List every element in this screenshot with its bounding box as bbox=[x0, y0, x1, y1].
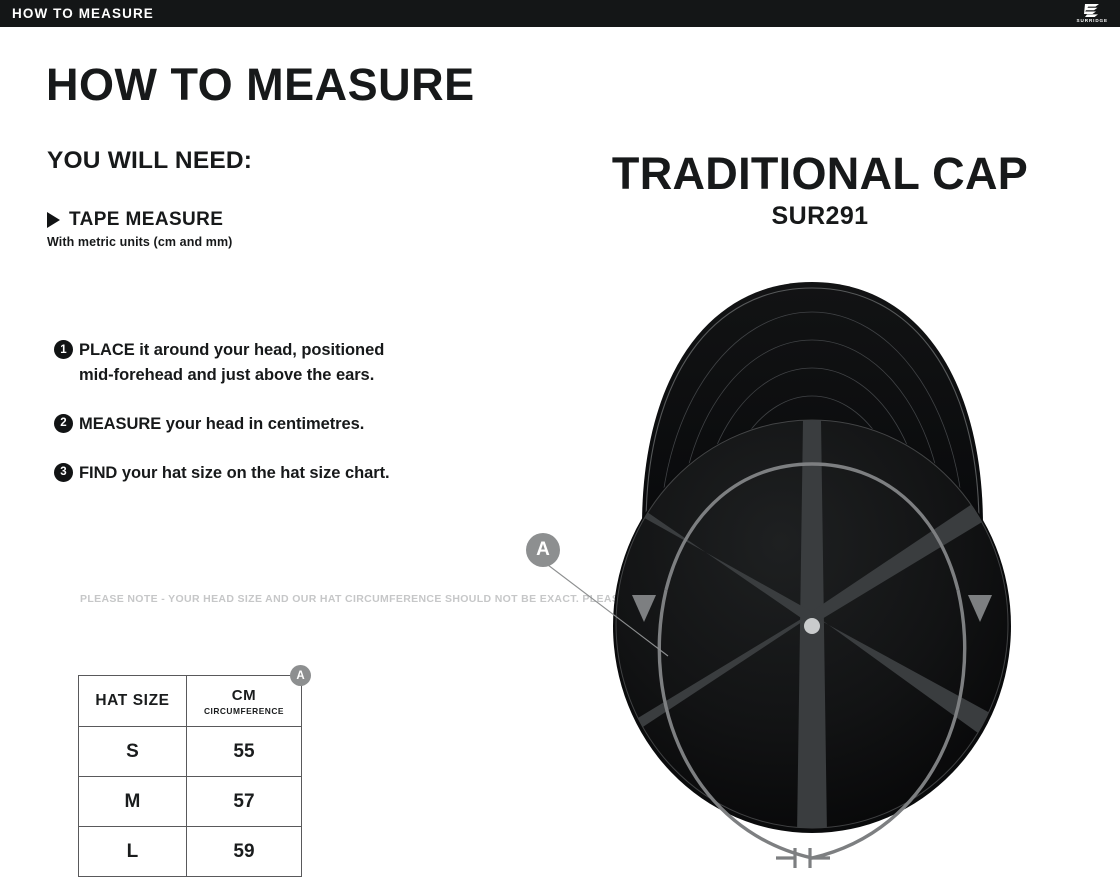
step-number-badge: 1 bbox=[54, 340, 73, 359]
surridge-s-logo-icon bbox=[1081, 3, 1103, 18]
table-row: S 55 bbox=[79, 727, 302, 777]
step-number-badge: 2 bbox=[54, 414, 73, 433]
list-item: 3 FIND your hat size on the hat size cha… bbox=[54, 461, 414, 486]
cap-top-view-diagram bbox=[490, 270, 1110, 883]
cell-cm: 55 bbox=[186, 727, 301, 777]
app-header-bar: HOW TO MEASURE SURRIDGE bbox=[0, 0, 1120, 27]
page-title: HOW TO MEASURE bbox=[46, 62, 475, 107]
tool-subtext: With metric units (cm and mm) bbox=[47, 235, 232, 249]
brand-name: SURRIDGE bbox=[1077, 19, 1108, 24]
cell-hat-size: L bbox=[79, 827, 187, 877]
callout-badge-a: A bbox=[526, 533, 560, 567]
cell-hat-size: S bbox=[79, 727, 187, 777]
brand-logo: SURRIDGE bbox=[1077, 3, 1108, 24]
column-header-cm-sub: CIRCUMFERENCE bbox=[193, 706, 295, 716]
column-header-hat-size: HAT SIZE bbox=[79, 676, 187, 727]
list-item: 2 MEASURE your head in centimetres. bbox=[54, 412, 414, 437]
tool-label: TAPE MEASURE bbox=[69, 209, 223, 231]
product-code: SUR291 bbox=[590, 202, 1050, 231]
cell-cm: 59 bbox=[186, 827, 301, 877]
column-header-cm-main: CM bbox=[232, 687, 257, 704]
tool-requirement: TAPE MEASURE With metric units (cm and m… bbox=[47, 209, 232, 249]
cap-button-icon bbox=[804, 618, 820, 634]
header-title: HOW TO MEASURE bbox=[12, 6, 154, 21]
step-number-badge: 3 bbox=[54, 463, 73, 482]
product-title: TRADITIONAL CAP bbox=[590, 151, 1050, 196]
step-text: MEASURE your head in centimetres. bbox=[79, 412, 364, 437]
cell-hat-size: M bbox=[79, 777, 187, 827]
column-header-cm-circumference: CM CIRCUMFERENCE A bbox=[186, 676, 301, 727]
table-row: L 59 bbox=[79, 827, 302, 877]
step-text: PLACE it around your head, positioned mi… bbox=[79, 338, 414, 388]
table-header-row: HAT SIZE CM CIRCUMFERENCE A bbox=[79, 676, 302, 727]
cap-crown bbox=[613, 419, 1011, 835]
list-item: 1 PLACE it around your head, positioned … bbox=[54, 338, 414, 388]
cell-cm: 57 bbox=[186, 777, 301, 827]
you-will-need-heading: YOU WILL NEED: bbox=[47, 147, 252, 175]
hat-size-chart-table: HAT SIZE CM CIRCUMFERENCE A S 55 M 57 L … bbox=[78, 675, 302, 877]
triangle-right-icon bbox=[47, 212, 60, 228]
step-text: FIND your hat size on the hat size chart… bbox=[79, 461, 390, 486]
table-row: M 57 bbox=[79, 777, 302, 827]
instruction-steps: 1 PLACE it around your head, positioned … bbox=[54, 338, 414, 486]
measurement-badge-a: A bbox=[290, 665, 311, 686]
